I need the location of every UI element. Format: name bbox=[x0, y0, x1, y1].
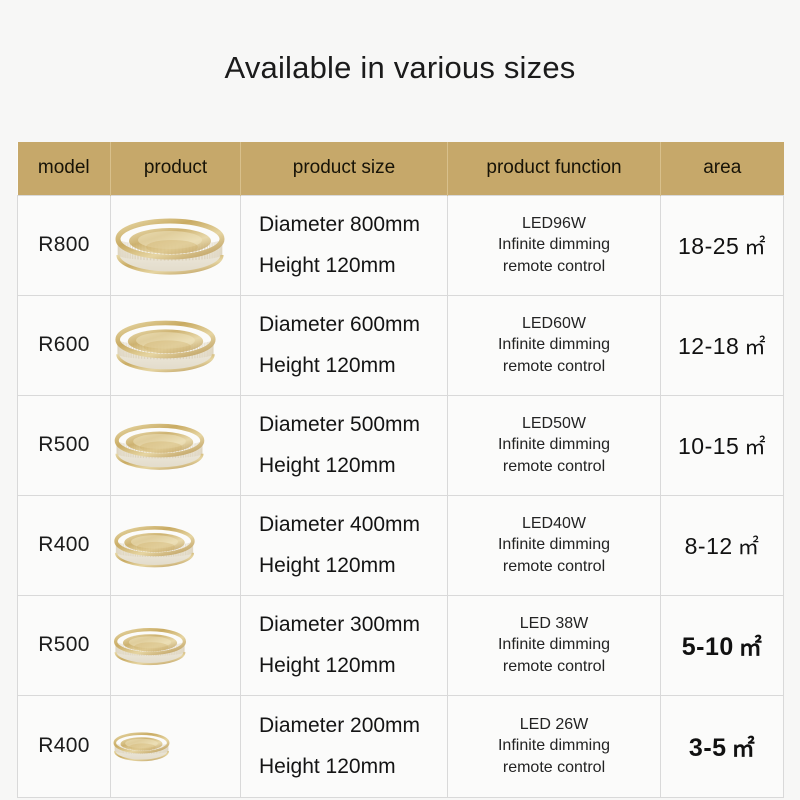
model-value: R400 bbox=[38, 533, 89, 556]
column-header-size: product size bbox=[241, 142, 448, 195]
product-spec-table: model product product size product funct… bbox=[17, 142, 784, 798]
ceiling-lamp-ring-icon bbox=[111, 621, 240, 670]
cell-size: Diameter 600mmHeight 120mm bbox=[241, 295, 448, 395]
cell-model: R400 bbox=[18, 695, 111, 797]
table-body: R800Diameter 800mmHeight 120mmLED96WInfi… bbox=[18, 195, 784, 797]
cell-function: LED60WInfinite dimmingremote control bbox=[448, 295, 661, 395]
function-dimming: Infinite dimming bbox=[448, 434, 660, 455]
cell-area: 18-25㎡ bbox=[661, 195, 784, 295]
cell-area: 10-15㎡ bbox=[661, 395, 784, 495]
function-dimming: Infinite dimming bbox=[448, 634, 660, 655]
function-remote: remote control bbox=[448, 757, 660, 778]
function-dimming: Infinite dimming bbox=[448, 334, 660, 355]
table-row: R800Diameter 800mmHeight 120mmLED96WInfi… bbox=[18, 195, 784, 295]
header-row: model product product size product funct… bbox=[18, 142, 784, 195]
function-remote: remote control bbox=[448, 656, 660, 677]
function-led: LED60W bbox=[448, 313, 660, 334]
size-height: Height 120mm bbox=[259, 354, 447, 377]
cell-size: Diameter 300mmHeight 120mm bbox=[241, 595, 448, 695]
function-dimming: Infinite dimming bbox=[448, 735, 660, 756]
cell-product bbox=[111, 295, 241, 395]
column-header-function: product function bbox=[448, 142, 661, 195]
function-led: LED 26W bbox=[448, 714, 660, 735]
size-diameter: Diameter 800mm bbox=[259, 213, 447, 236]
cell-model: R400 bbox=[18, 495, 111, 595]
function-remote: remote control bbox=[448, 456, 660, 477]
area-value: 10-15 bbox=[678, 433, 739, 459]
cell-product bbox=[111, 195, 241, 295]
function-dimming: Infinite dimming bbox=[448, 234, 660, 255]
table-header: model product product size product funct… bbox=[18, 142, 784, 195]
cell-size: Diameter 200mmHeight 120mm bbox=[241, 695, 448, 797]
cell-function: LED 26WInfinite dimmingremote control bbox=[448, 695, 661, 797]
ceiling-lamp-ring-icon bbox=[111, 415, 240, 476]
function-led: LED 38W bbox=[448, 613, 660, 634]
size-diameter: Diameter 300mm bbox=[259, 613, 447, 636]
size-diameter: Diameter 200mm bbox=[259, 714, 447, 737]
size-height: Height 120mm bbox=[259, 554, 447, 577]
cell-function: LED40WInfinite dimmingremote control bbox=[448, 495, 661, 595]
cell-product bbox=[111, 495, 241, 595]
area-unit: ㎡ bbox=[732, 735, 756, 761]
cell-area: 12-18㎡ bbox=[661, 295, 784, 395]
function-remote: remote control bbox=[448, 356, 660, 377]
cell-size: Diameter 800mmHeight 120mm bbox=[241, 195, 448, 295]
cell-function: LED96WInfinite dimmingremote control bbox=[448, 195, 661, 295]
column-header-area: area bbox=[661, 142, 784, 195]
function-led: LED96W bbox=[448, 213, 660, 234]
area-unit: ㎡ bbox=[744, 336, 766, 359]
function-led: LED40W bbox=[448, 513, 660, 534]
cell-function: LED50WInfinite dimmingremote control bbox=[448, 395, 661, 495]
column-header-product: product bbox=[111, 142, 241, 195]
model-value: R800 bbox=[38, 233, 89, 256]
cell-area: 8-12㎡ bbox=[661, 495, 784, 595]
function-dimming: Infinite dimming bbox=[448, 534, 660, 555]
area-value: 8-12 bbox=[685, 533, 733, 559]
table-row: R400Diameter 200mmHeight 120mmLED 26WInf… bbox=[18, 695, 784, 797]
cell-size: Diameter 500mmHeight 120mm bbox=[241, 395, 448, 495]
size-diameter: Diameter 600mm bbox=[259, 313, 447, 336]
cell-model: R500 bbox=[18, 595, 111, 695]
area-value: 18-25 bbox=[678, 233, 739, 259]
area-unit: ㎡ bbox=[739, 634, 763, 660]
cell-size: Diameter 400mmHeight 120mm bbox=[241, 495, 448, 595]
table-row: R600Diameter 600mmHeight 120mmLED60WInfi… bbox=[18, 295, 784, 395]
model-value: R600 bbox=[38, 333, 89, 356]
column-header-model: model bbox=[18, 142, 111, 195]
product-spec-page: Available in various sizes model product… bbox=[0, 0, 800, 800]
function-led: LED50W bbox=[448, 413, 660, 434]
function-remote: remote control bbox=[448, 256, 660, 277]
cell-model: R500 bbox=[18, 395, 111, 495]
size-diameter: Diameter 400mm bbox=[259, 513, 447, 536]
table-row: R500Diameter 300mmHeight 120mmLED 38WInf… bbox=[18, 595, 784, 695]
function-remote: remote control bbox=[448, 556, 660, 577]
cell-function: LED 38WInfinite dimmingremote control bbox=[448, 595, 661, 695]
table-row: R500Diameter 500mmHeight 120mmLED50WInfi… bbox=[18, 395, 784, 495]
table-row: R400Diameter 400mmHeight 120mmLED40WInfi… bbox=[18, 495, 784, 595]
ceiling-lamp-ring-icon bbox=[111, 727, 240, 765]
size-height: Height 120mm bbox=[259, 755, 447, 778]
cell-area: 5-10㎡ bbox=[661, 595, 784, 695]
area-value: 5-10 bbox=[682, 633, 734, 661]
cell-area: 3-5㎡ bbox=[661, 695, 784, 797]
model-value: R500 bbox=[38, 433, 89, 456]
size-height: Height 120mm bbox=[259, 654, 447, 677]
model-value: R500 bbox=[38, 633, 89, 656]
model-value: R400 bbox=[38, 734, 89, 757]
area-value: 12-18 bbox=[678, 333, 739, 359]
ceiling-lamp-ring-icon bbox=[111, 208, 240, 282]
cell-product bbox=[111, 395, 241, 495]
ceiling-lamp-ring-icon bbox=[111, 518, 240, 573]
cell-product bbox=[111, 695, 241, 797]
size-diameter: Diameter 500mm bbox=[259, 413, 447, 436]
size-height: Height 120mm bbox=[259, 454, 447, 477]
cell-product bbox=[111, 595, 241, 695]
ceiling-lamp-ring-icon bbox=[111, 311, 240, 379]
cell-model: R600 bbox=[18, 295, 111, 395]
area-value: 3-5 bbox=[689, 734, 727, 762]
area-unit: ㎡ bbox=[744, 236, 766, 259]
page-title: Available in various sizes bbox=[0, 50, 800, 86]
size-height: Height 120mm bbox=[259, 254, 447, 277]
area-unit: ㎡ bbox=[738, 536, 760, 559]
cell-model: R800 bbox=[18, 195, 111, 295]
area-unit: ㎡ bbox=[744, 436, 766, 459]
